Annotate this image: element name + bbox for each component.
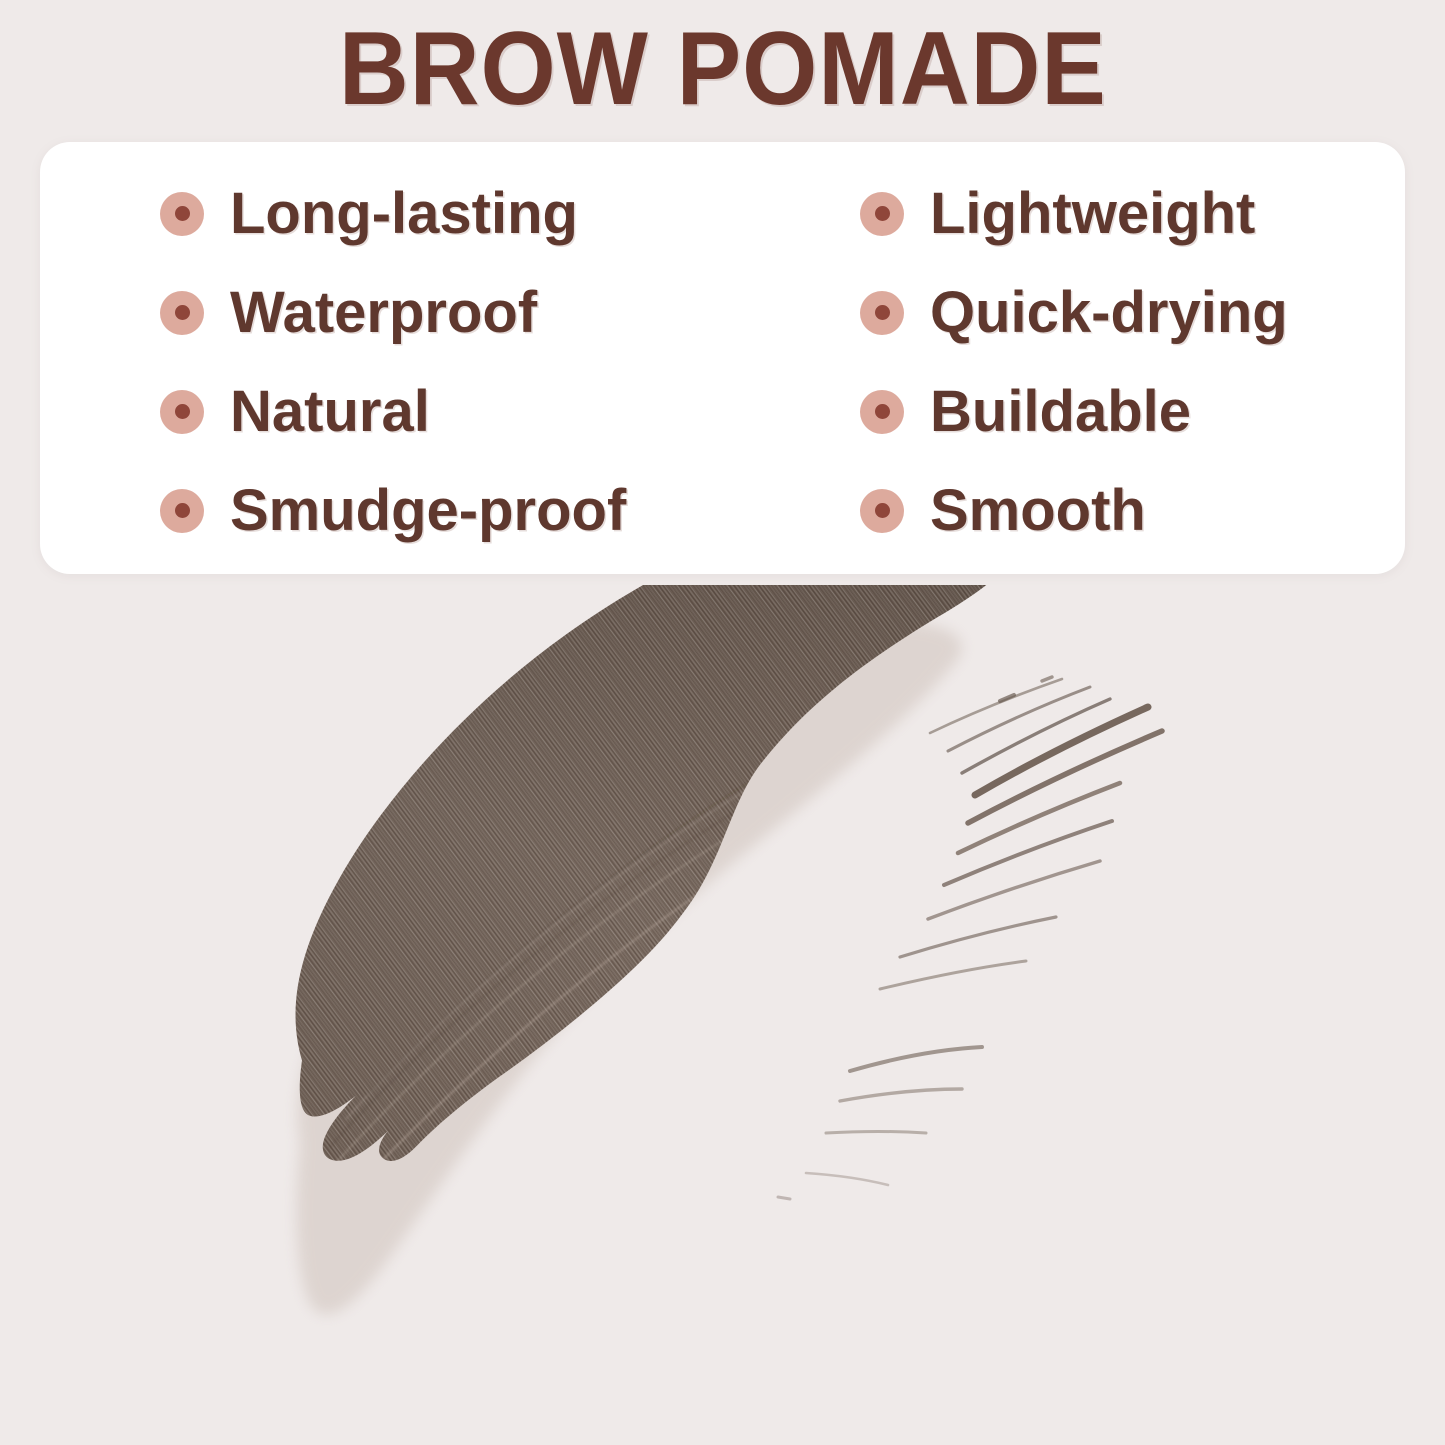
feature-label: Natural: [230, 383, 430, 441]
feature-label: Smooth: [930, 482, 1146, 540]
bullet-dot-icon: [860, 192, 904, 236]
bullet-dot-icon: [160, 291, 204, 335]
page-title-wrapper: BROW POMADE: [0, 16, 1445, 122]
feature-item-waterproof: Waterproof: [40, 284, 760, 342]
swatch-edge-feather: [0, 585, 1445, 1445]
feature-label: Quick-drying: [930, 284, 1288, 342]
feature-label: Lightweight: [930, 185, 1255, 243]
bullet-dot-icon: [860, 291, 904, 335]
feature-item-buildable: Buildable: [760, 383, 1405, 441]
bullet-dot-icon: [160, 390, 204, 434]
brush-stroke-swatch: [0, 585, 1445, 1445]
feature-item-long-lasting: Long-lasting: [40, 185, 760, 243]
feature-item-lightweight: Lightweight: [760, 185, 1405, 243]
feature-item-smudge-proof: Smudge-proof: [40, 482, 760, 540]
features-card: Long-lasting Lightweight Waterproof Quic…: [40, 142, 1405, 574]
feature-label: Buildable: [930, 383, 1191, 441]
bullet-dot-icon: [860, 489, 904, 533]
features-grid: Long-lasting Lightweight Waterproof Quic…: [40, 142, 1405, 574]
feature-item-quick-drying: Quick-drying: [760, 284, 1405, 342]
bullet-dot-icon: [860, 390, 904, 434]
bullet-dot-icon: [160, 489, 204, 533]
feature-label: Smudge-proof: [230, 482, 626, 540]
feature-label: Long-lasting: [230, 185, 578, 243]
feature-item-natural: Natural: [40, 383, 760, 441]
page-title: BROW POMADE: [339, 16, 1107, 122]
bullet-dot-icon: [160, 192, 204, 236]
feature-label: Waterproof: [230, 284, 537, 342]
feature-item-smooth: Smooth: [760, 482, 1405, 540]
product-swatch-area: [0, 585, 1445, 1445]
